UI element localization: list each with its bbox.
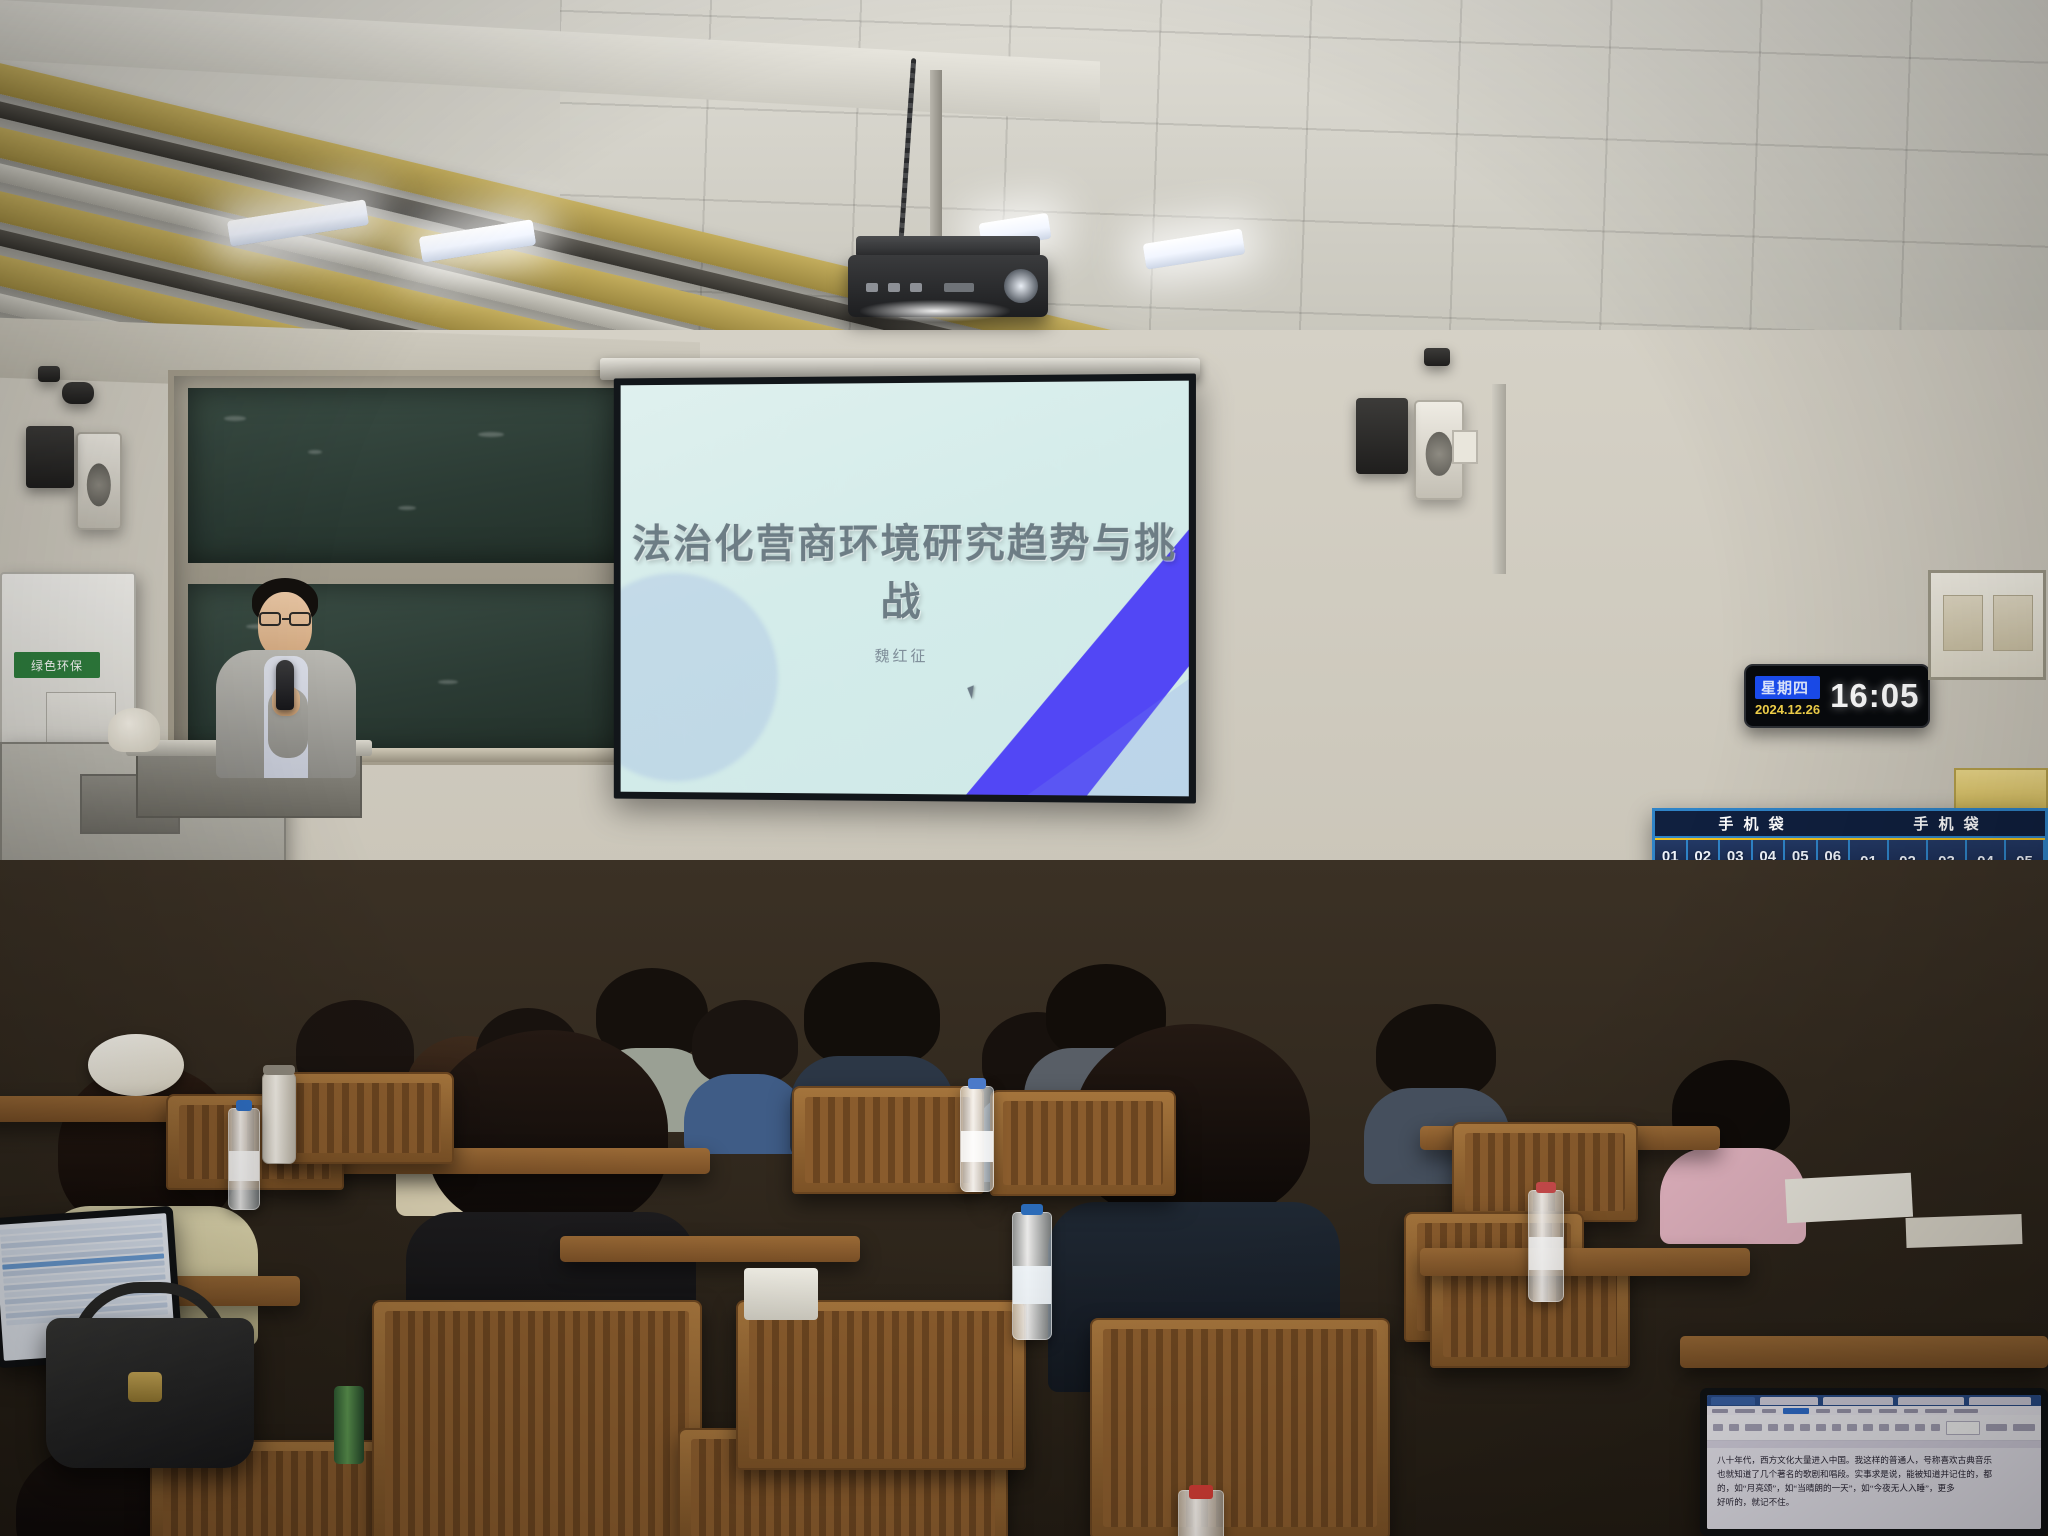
- desk-near-right: [1420, 1248, 1750, 1276]
- projector-mount: [930, 70, 942, 245]
- wall-outlet: [1452, 430, 1478, 464]
- wall-poster: [1928, 570, 2046, 680]
- wps-doc-tab[interactable]: [1760, 1397, 1818, 1405]
- paper-sheet: [1785, 1173, 1913, 1224]
- digital-clock: 星期四 2024.12.26 16:05: [1744, 664, 1930, 728]
- wall-notice-yellow: [1954, 768, 2048, 812]
- audience-member: [692, 1000, 798, 1126]
- wps-app-tab[interactable]: [1711, 1397, 1755, 1405]
- wps-doc-tab[interactable]: [1969, 1397, 2031, 1405]
- wall-conduit: [1492, 384, 1506, 574]
- wall-bracket-right: [1424, 348, 1450, 366]
- notebook: [1906, 1214, 2023, 1248]
- wall-speaker-right-black: [1356, 398, 1408, 474]
- water-bottle: [1012, 1212, 1052, 1340]
- green-bottle: [334, 1386, 364, 1464]
- chair-front-row: [736, 1300, 1026, 1470]
- water-bottle: [1528, 1190, 1564, 1302]
- lecture-hall-photo: 法治化营商环境研究趋势与挑战 魏红征 星期四 2024.12.26 16:05 …: [0, 0, 2048, 1536]
- wps-ribbon[interactable]: [1707, 1415, 2041, 1441]
- cabinet-label: 绿色环保: [14, 652, 100, 678]
- document-line: 八十年代，西方文化大量进入中国。我这样的普通人，号称喜欢古典音乐: [1717, 1454, 2031, 1468]
- wall-camera: [62, 382, 94, 404]
- poster-image-2: [1993, 595, 2033, 651]
- thermos-flask: [262, 1072, 296, 1164]
- pouch-header-right: 手 机 袋: [1850, 811, 2045, 838]
- water-bottle: [228, 1108, 260, 1210]
- audience-member: [428, 1030, 668, 1320]
- laptop-right-screen: 八十年代，西方文化大量进入中国。我这样的普通人，号称喜欢古典音乐 也就知道了几个…: [1707, 1395, 2041, 1529]
- wall-sensor: [38, 366, 60, 382]
- presentation-slide: 法治化营商环境研究趋势与挑战 魏红征: [621, 381, 1189, 797]
- chair: [276, 1072, 454, 1164]
- desk-near-mid: [560, 1236, 860, 1262]
- poster-image-1: [1943, 595, 1983, 651]
- water-bottle: [1178, 1490, 1224, 1536]
- wps-ruler: [1707, 1441, 2041, 1448]
- handbag-clasp: [128, 1372, 162, 1402]
- desk-near-far-right: [1680, 1336, 2048, 1368]
- microphone: [276, 660, 294, 710]
- presenter: [206, 578, 366, 778]
- wps-tab-bar[interactable]: [1707, 1395, 2041, 1406]
- slide-title: 法治化营商环境研究趋势与挑战: [621, 510, 1189, 627]
- tissue-box: [744, 1268, 818, 1320]
- projector-beam-glow: [860, 300, 1010, 322]
- wps-doc-tab[interactable]: [1898, 1397, 1964, 1405]
- wps-menu-bar[interactable]: [1707, 1406, 2041, 1415]
- mouse-pointer-icon: [967, 683, 983, 699]
- clock-left-column: 星期四 2024.12.26: [1755, 676, 1820, 717]
- flowers-on-lectern: [108, 708, 160, 752]
- wps-doc-tab[interactable]: [1823, 1397, 1893, 1405]
- hair-scrunchie: [88, 1034, 184, 1096]
- chair: [792, 1086, 984, 1194]
- document-line: 的，如“月亮颂”，如“当晴朗的一天”，如“今夜无人入睡”，更多: [1717, 1482, 2031, 1496]
- presenter-glasses: [258, 612, 312, 626]
- wall-speaker-left-black: [26, 426, 74, 488]
- wps-document-page[interactable]: 八十年代，西方文化大量进入中国。我这样的普通人，号称喜欢古典音乐 也就知道了几个…: [1707, 1448, 2041, 1529]
- clock-time: 16:05: [1830, 677, 1919, 715]
- pouch-header-left: 手 机 袋: [1655, 811, 1850, 838]
- blackboard-panel-upper: [188, 388, 628, 563]
- chair-front-row: [372, 1300, 702, 1536]
- clock-date: 2024.12.26: [1755, 702, 1820, 717]
- projection-screen: 法治化营商环境研究趋势与挑战 魏红征: [614, 374, 1196, 804]
- chair-front-row: [1090, 1318, 1390, 1536]
- document-line: 好听的，就记不住。: [1717, 1496, 2031, 1510]
- wall-speaker-left: [76, 432, 122, 530]
- chair: [990, 1090, 1176, 1196]
- slide-author: 魏红征: [621, 644, 1189, 667]
- laptop-right[interactable]: 八十年代，西方文化大量进入中国。我这样的普通人，号称喜欢古典音乐 也就知道了几个…: [1700, 1388, 2048, 1536]
- clock-weekday: 星期四: [1755, 676, 1820, 699]
- document-line: 也就知道了几个著名的歌剧和唱段。实事求是说，能被知道并记住的，都: [1717, 1468, 2031, 1482]
- water-bottle: [960, 1086, 994, 1192]
